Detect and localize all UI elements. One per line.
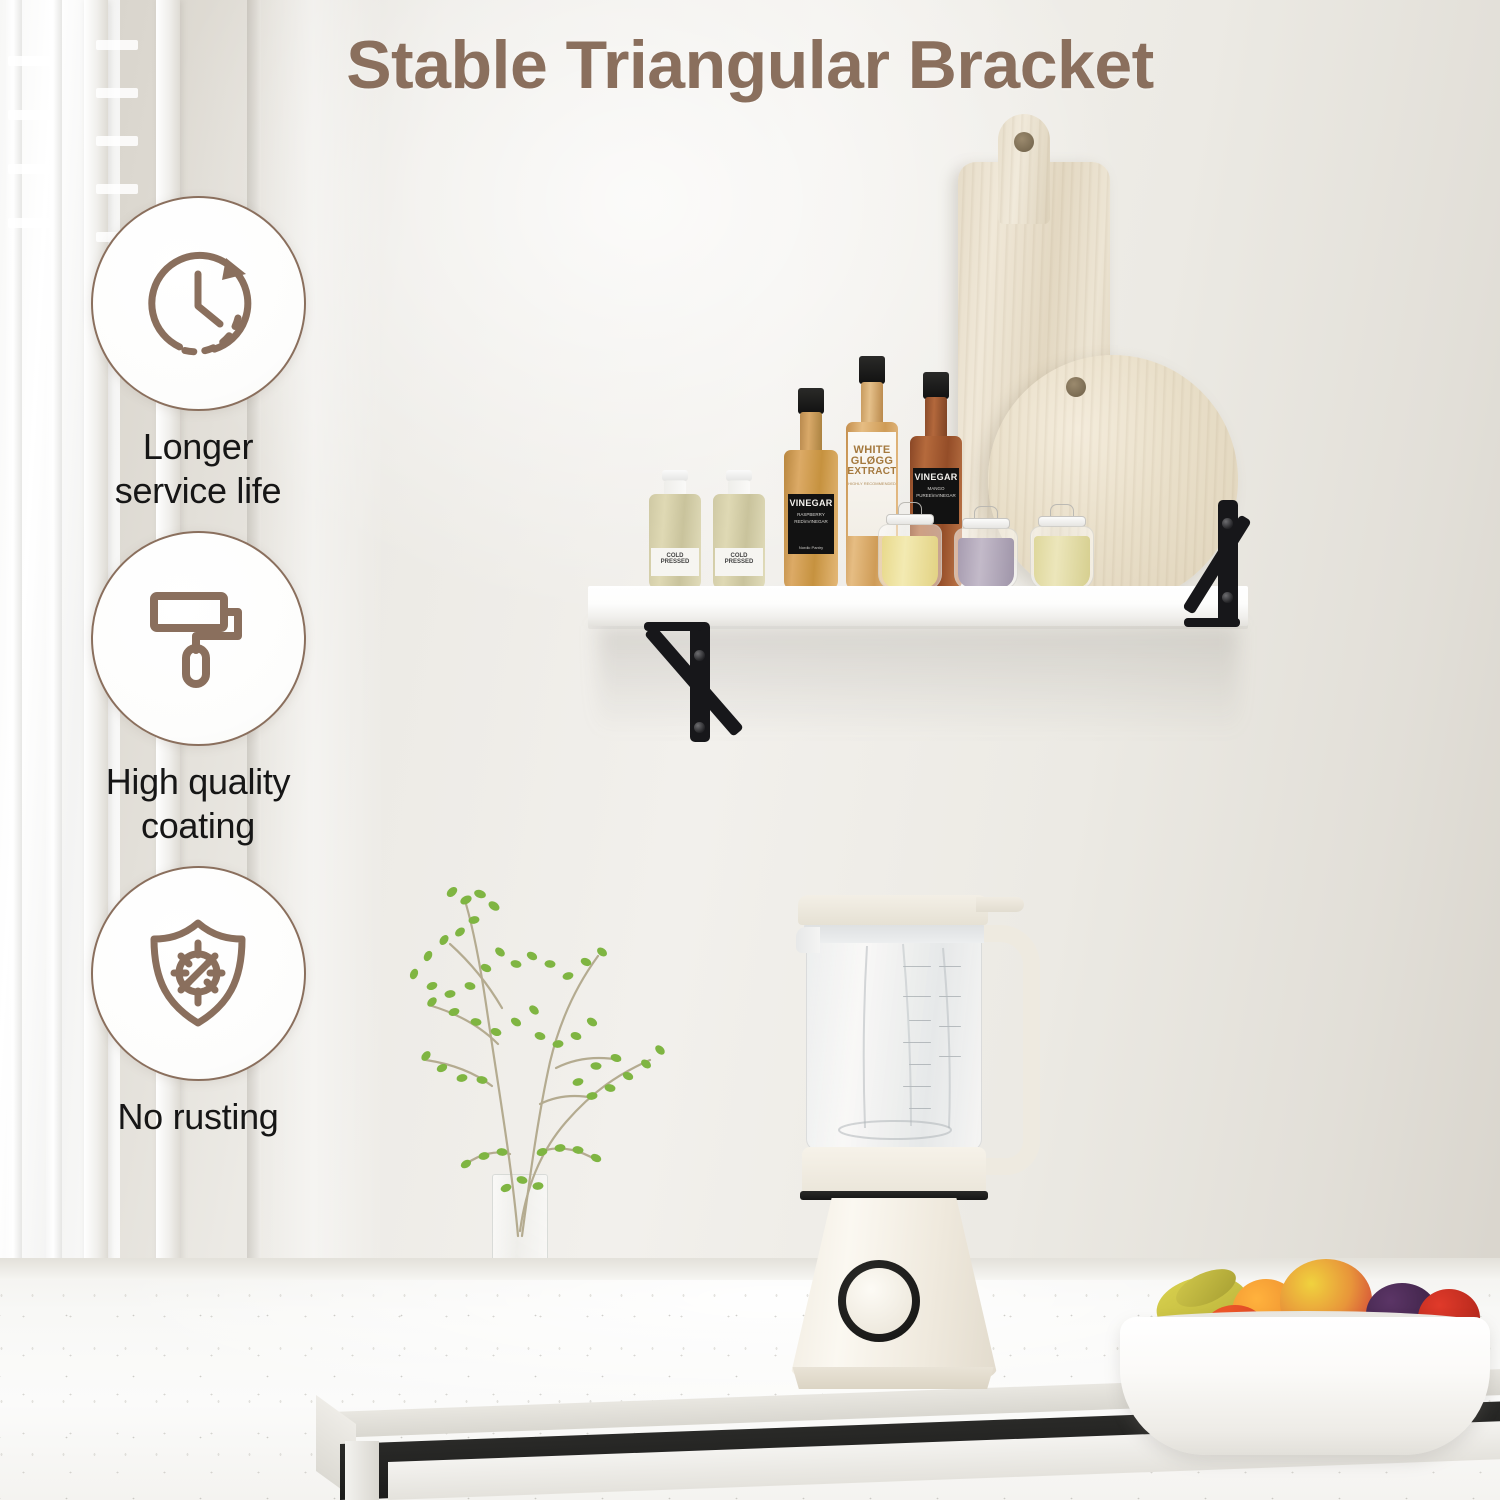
label-word3: EXTRACT xyxy=(848,467,896,477)
blender-lid-tab xyxy=(976,897,1024,912)
feature-icon-circle xyxy=(91,866,306,1081)
blender-foot xyxy=(786,1367,1000,1389)
window-slat xyxy=(96,184,138,194)
juice-bottle: COLD PRESSED xyxy=(712,470,766,590)
window-slat xyxy=(8,110,50,120)
fruit-bowl xyxy=(1120,1255,1490,1455)
label-maker: Nordic Pantry xyxy=(799,545,823,550)
storage-jar-purple xyxy=(952,518,1020,590)
blender-lid xyxy=(798,895,988,925)
bottle-cap xyxy=(798,388,824,414)
shelf-bracket-right xyxy=(1184,500,1254,630)
feature-icon-circle xyxy=(91,531,306,746)
feature-label: Longer service life xyxy=(64,425,332,513)
storage-jar-yellow xyxy=(876,514,944,590)
vinegar-bottle-left: VINEGAR RASPBERRY RED\nVINEGAR Nordic Pa… xyxy=(784,388,838,590)
label-text: PRESSED xyxy=(661,559,690,565)
feature-list: Longer service life High quality coating xyxy=(64,196,332,1157)
window-blind-mid xyxy=(46,0,62,1295)
shelf-board xyxy=(588,586,1248,626)
jar-contents xyxy=(1034,536,1090,588)
bracket-screw xyxy=(1222,518,1233,529)
label-desc: MANGO PUREE\nVINEGAR xyxy=(913,486,959,500)
label-desc: RASPBERRY RED\nVINEGAR xyxy=(788,512,834,526)
bracket-screw xyxy=(694,650,705,661)
storage-jar-grain xyxy=(1028,516,1096,590)
page-title: Stable Triangular Bracket xyxy=(0,26,1500,104)
feature-label-line1: Longer xyxy=(64,425,332,469)
paint-roller-icon xyxy=(134,574,262,702)
bracket-diagonal-brace xyxy=(1182,514,1251,614)
board-hanging-hole xyxy=(1014,132,1034,152)
label-desc: HIGHLY RECOMMENDED xyxy=(848,481,896,487)
bottle-cap xyxy=(859,356,885,384)
bowl-shell xyxy=(1120,1317,1490,1455)
feature-label-line2: coating xyxy=(64,804,332,848)
cutting-board-handle xyxy=(998,114,1050,224)
bracket-bottom-arm xyxy=(1184,618,1240,627)
jar-contents xyxy=(958,538,1014,588)
window-slat xyxy=(8,218,50,228)
cabinet-corner-post xyxy=(345,1441,379,1500)
blender-jug xyxy=(806,921,982,1151)
wall-shelf xyxy=(588,586,1260,776)
feature-label-line1: No rusting xyxy=(64,1095,332,1139)
wood-grain xyxy=(998,114,1050,224)
feature-label: High quality coating xyxy=(64,760,332,848)
feature-label: No rusting xyxy=(64,1095,332,1139)
bottle-label: COLD PRESSED xyxy=(651,548,699,576)
window-slat xyxy=(8,164,50,174)
feature-no-rusting: No rusting xyxy=(64,866,332,1139)
feature-icon-circle xyxy=(91,196,306,411)
blender-collar xyxy=(802,1147,986,1193)
jug-inner-ribs xyxy=(807,922,983,1152)
board-hanging-hole xyxy=(1066,377,1086,397)
feature-longer-service-life: Longer service life xyxy=(64,196,332,513)
bottle-cap xyxy=(923,372,949,399)
clock-arrow-icon xyxy=(134,240,262,368)
bottle-label: COLD PRESSED xyxy=(715,548,763,576)
window-blind-left xyxy=(6,0,22,1295)
shelf-bracket-left xyxy=(644,622,754,746)
feature-high-quality-coating: High quality coating xyxy=(64,531,332,848)
bracket-screw xyxy=(1222,592,1233,603)
jar-contents xyxy=(882,536,938,588)
feature-label-line2: service life xyxy=(64,469,332,513)
shelf-contents: COLD PRESSED COLD PRESSED VINEGAR RASPBE… xyxy=(588,150,1278,590)
window-slat xyxy=(96,136,138,146)
shield-rust-icon xyxy=(134,909,262,1037)
bracket-screw xyxy=(694,722,705,733)
blender-control-knob[interactable] xyxy=(846,1268,912,1334)
label-brand: VINEGAR xyxy=(914,473,957,482)
label-text: PRESSED xyxy=(725,559,754,565)
bracket-top-arm xyxy=(644,622,702,631)
bottle-label: VINEGAR RASPBERRY RED\nVINEGAR Nordic Pa… xyxy=(788,494,834,554)
label-brand: VINEGAR xyxy=(789,499,832,508)
plant-leaves xyxy=(370,836,700,1306)
feature-label-line1: High quality xyxy=(64,760,332,804)
potted-plant xyxy=(370,836,700,1306)
juice-bottle: COLD PRESSED xyxy=(648,470,702,590)
blender-appliance xyxy=(780,895,1050,1405)
blender-spout xyxy=(796,927,820,953)
